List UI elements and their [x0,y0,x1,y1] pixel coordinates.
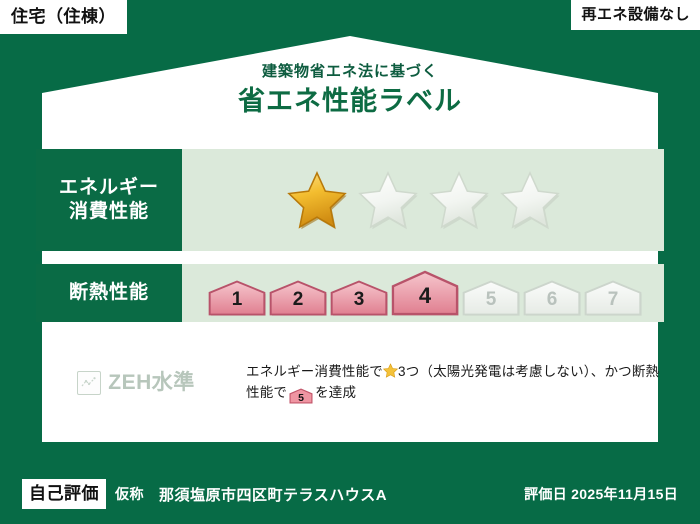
insulation-grade-scale: 1234567 [208,270,642,316]
zeh-note-area: ZEH水準 エネルギー消費性能で 3つ（太陽光発電は考慮しない）、かつ断熱性能で… [36,362,664,404]
note-text-part3: を達成 [315,385,356,400]
label-footer: 自己評価 仮称 那須塩原市四区町テラスハウスA 評価日 2025年11月15日 [0,464,700,524]
energy-performance-label: 住宅（住棟） 再エネ設備なし 建築物省エネ法に基づく 省エネ性能ラベル エネルギ… [0,0,700,524]
star-rating [286,170,561,230]
renewable-equipment-tag: 再エネ設備なし [570,0,700,31]
star-empty-icon [357,170,419,230]
star-filled-icon [286,170,348,230]
achievement-note: エネルギー消費性能で 3つ（太陽光発電は考慮しない）、かつ断熱性能で 5 を達成 [246,362,664,404]
energy-performance-label-box: エネルギー 消費性能 [36,149,182,251]
insulation-grade-1: 1 [208,280,266,316]
insulation-grade-6: 6 [523,280,581,316]
footer-left-group: 自己評価 仮称 那須塩原市四区町テラスハウスA [22,479,387,509]
note-text-part1: エネルギー消費性能で [246,364,383,379]
zeh-standard-label: ZEH水準 [108,372,195,393]
building-name: 那須塩原市四区町テラスハウスA [159,484,387,505]
self-evaluation-tag: 自己評価 [22,479,106,509]
insulation-performance-content: 1234567 [182,264,664,322]
energy-performance-content [182,149,664,251]
energy-label-line1: エネルギー [59,176,159,200]
zeh-standard-block: ZEH水準 [36,371,236,395]
insulation-grade-value: 4 [419,285,431,316]
inline-grade-badge: 5 [289,388,313,404]
insulation-grade-value: 1 [232,290,243,316]
insulation-grade-5: 5 [462,280,520,316]
inline-grade-value: 5 [289,388,313,408]
insulation-grade-4: 4 [391,270,459,316]
energy-performance-row: エネルギー 消費性能 [36,149,664,251]
insulation-grade-2: 2 [269,280,327,316]
insulation-performance-label-box: 断熱性能 [36,264,182,322]
provisional-name-label: 仮称 [115,484,144,504]
house-type-tag: 住宅（住棟） [0,0,128,35]
insulation-performance-row: 断熱性能 1234567 [36,264,664,322]
insulation-grade-value: 6 [547,290,558,316]
insulation-grade-value: 7 [608,290,619,316]
insulation-grade-7: 7 [584,280,642,316]
insulation-grade-value: 2 [293,290,304,316]
insulation-grade-value: 5 [486,290,497,316]
zeh-mark-icon [77,371,101,395]
star-empty-icon [499,170,561,230]
insulation-label-line1: 断熱性能 [69,281,149,305]
insulation-grade-value: 3 [354,290,365,316]
star-icon [383,363,398,378]
insulation-grade-3: 3 [330,280,388,316]
evaluation-date: 評価日 2025年11月15日 [524,484,678,504]
energy-label-line2: 消費性能 [69,200,149,224]
star-empty-icon [428,170,490,230]
